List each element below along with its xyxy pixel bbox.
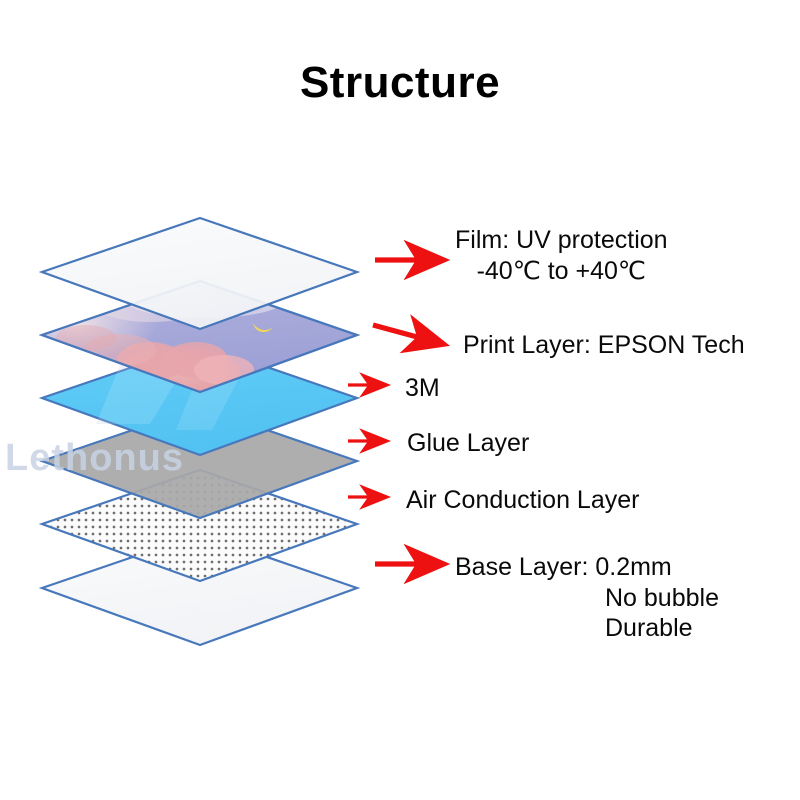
- label-air-line1: Air Conduction Layer: [406, 485, 639, 516]
- label-glue-line1: Glue Layer: [407, 428, 529, 459]
- label-air-conduction: Air Conduction Layer: [406, 485, 639, 516]
- label-3m-line1: 3M: [405, 373, 440, 404]
- structure-diagram-page: Structure: [0, 0, 800, 800]
- layer-film: [42, 218, 357, 329]
- label-film: Film: UV protection -40℃ to +40℃: [455, 225, 668, 286]
- label-base: Base Layer: 0.2mm No bubble Durable: [455, 552, 719, 644]
- label-glue: Glue Layer: [407, 428, 529, 459]
- label-film-line1: Film: UV protection: [455, 225, 668, 256]
- label-print-line1: Print Layer: EPSON Tech: [463, 330, 745, 361]
- exploded-layer-diagram: [0, 0, 800, 800]
- label-3m: 3M: [405, 373, 440, 404]
- label-base-line1: Base Layer: 0.2mm: [455, 552, 719, 583]
- label-print: Print Layer: EPSON Tech: [463, 330, 745, 361]
- label-base-line2: No bubble: [455, 583, 719, 614]
- watermark-text: Lethonus: [5, 437, 184, 480]
- arrow-print: [373, 325, 443, 344]
- label-film-line2: -40℃ to +40℃: [455, 256, 668, 287]
- label-base-line3: Durable: [455, 613, 719, 644]
